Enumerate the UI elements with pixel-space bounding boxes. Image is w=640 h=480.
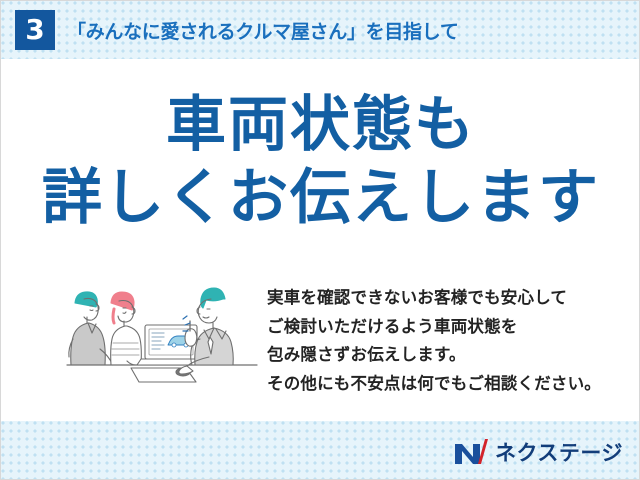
header: 3 「みんなに愛されるクルマ屋さん」を目指して: [1, 1, 640, 59]
consultation-illustration: [59, 273, 264, 391]
body-copy-line-4: その他にも不安点は何でもご相談ください。: [267, 370, 619, 399]
headline-line-1: 車両状態も: [1, 93, 640, 158]
header-title: 「みんなに愛されるクルマ屋さん」を目指して: [67, 17, 459, 44]
headline-line-2: 詳しくお伝えします: [1, 166, 640, 231]
section-number-badge: 3: [15, 10, 55, 50]
body-copy-line-3: 包み隠さずお伝えします。: [267, 341, 619, 370]
nextage-n-mark-icon: [454, 439, 488, 465]
body-copy-line-2: ご検討いただけるよう車両状態を: [267, 313, 619, 342]
brand-logo: ネクステージ: [454, 437, 623, 467]
headline: 車両状態も 詳しくお伝えします: [1, 93, 640, 231]
advertisement-banner: 3 「みんなに愛されるクルマ屋さん」を目指して 車両状態も 詳しくお伝えします: [0, 0, 640, 480]
body-copy: 実車を確認できないお客様でも安心して ご検討いただけるよう車両状態を 包み隠さず…: [267, 284, 619, 399]
body-copy-line-1: 実車を確認できないお客様でも安心して: [267, 284, 619, 313]
consultation-illustration-svg: [59, 273, 264, 391]
brand-logo-text: ネクステージ: [495, 437, 623, 467]
